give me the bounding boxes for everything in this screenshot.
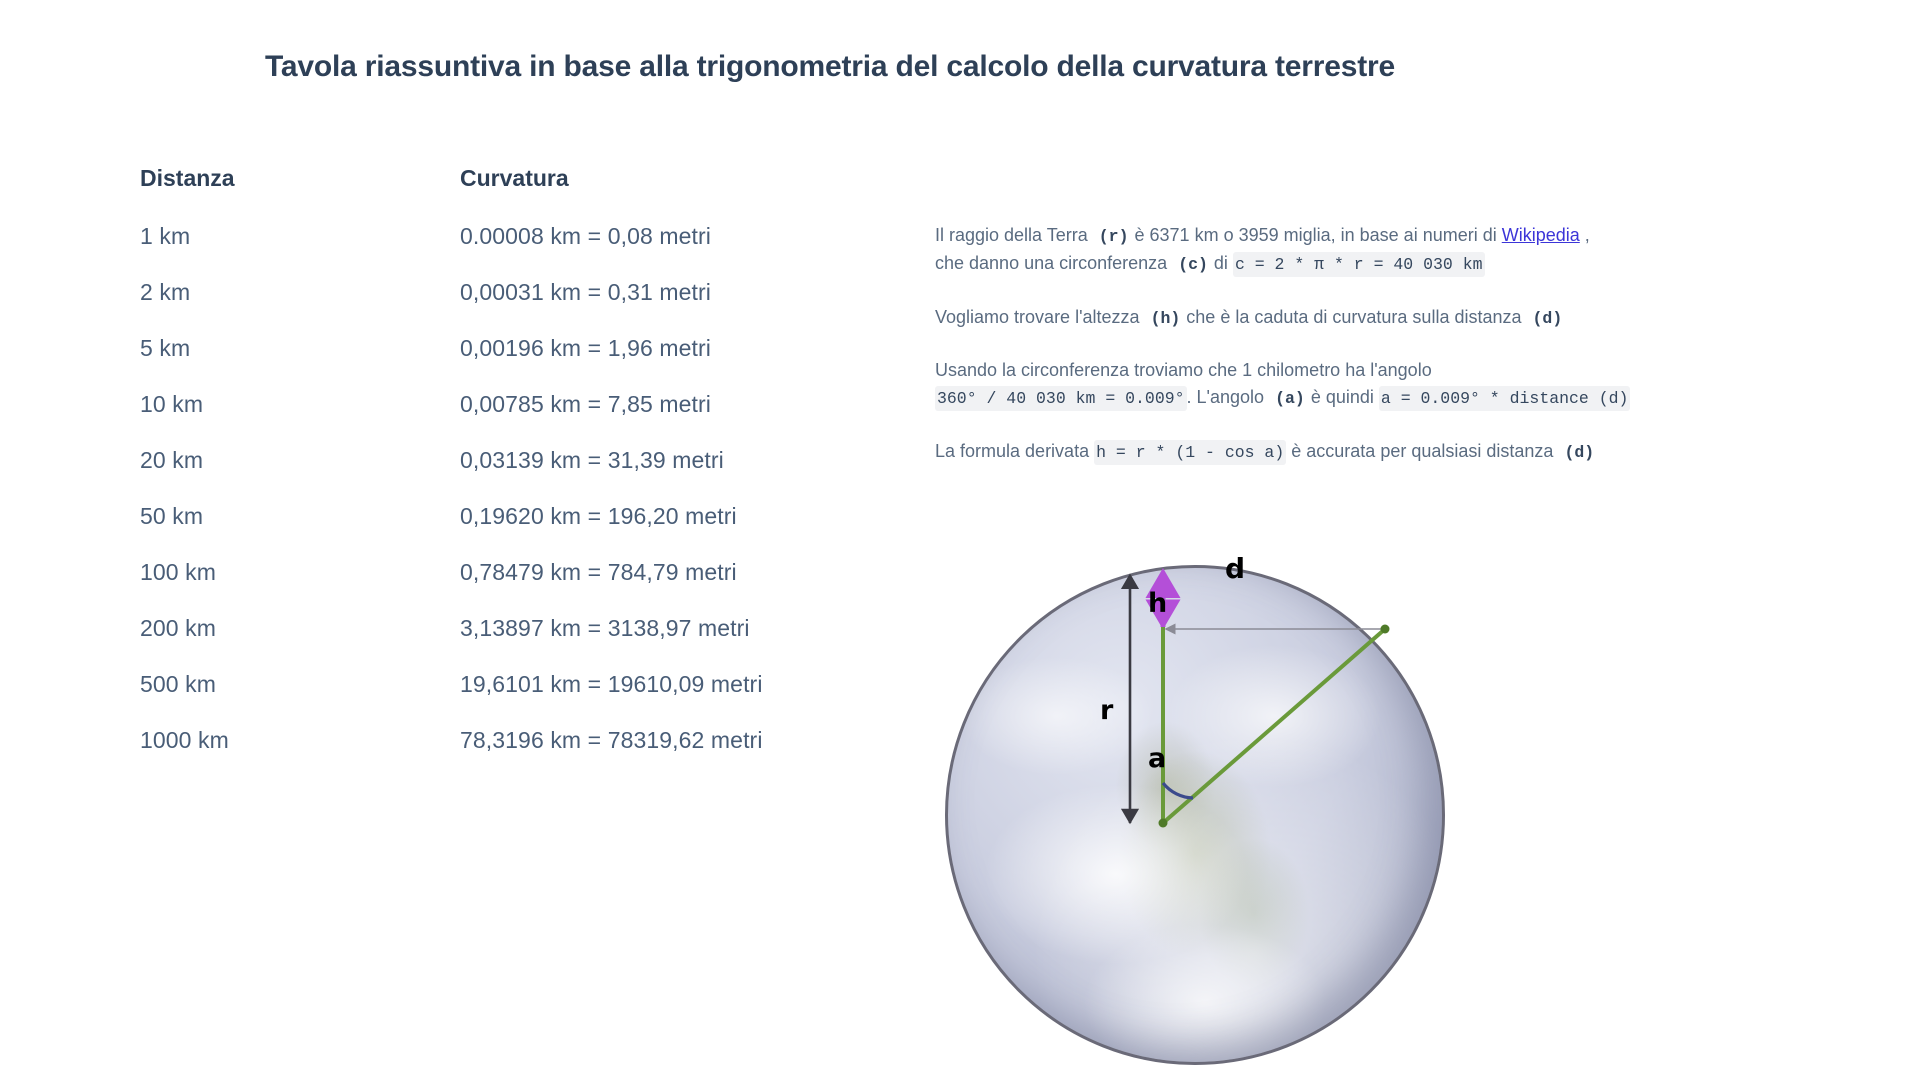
cell-curvature: 0,00196 km = 1,96 metri — [460, 335, 890, 362]
code-angle-per-km: 360° / 40 030 km = 0.009° — [935, 386, 1187, 411]
text-formula-b: è accurata per qualsiasi distanza — [1291, 441, 1553, 461]
code-h: (h) — [1150, 306, 1182, 331]
cell-distance: 10 km — [140, 391, 460, 418]
column-header-distance: Distanza — [140, 165, 460, 192]
cell-distance: 1000 km — [140, 727, 460, 754]
text-radius-a: Il raggio della Terra — [935, 225, 1088, 245]
cell-distance: 1 km — [140, 223, 460, 250]
table-row: 1000 km 78,3196 km = 78319,62 metri — [140, 727, 900, 783]
cell-curvature: 19,6101 km = 19610,09 metri — [460, 671, 890, 698]
code-height-formula: h = r * (1 - cos a) — [1094, 440, 1286, 465]
text-angle-a: Usando la circonferenza troviamo che 1 c… — [935, 360, 1432, 380]
code-circumference-formula: c = 2 * π * r = 40 030 km — [1233, 252, 1485, 277]
table-row: 10 km 0,00785 km = 7,85 metri — [140, 391, 900, 447]
cell-distance: 100 km — [140, 559, 460, 586]
earth-curvature-diagram: d h r a — [930, 555, 1470, 1080]
cell-curvature: 0,00031 km = 0,31 metri — [460, 279, 890, 306]
text-circumference-b: di — [1214, 253, 1228, 273]
cell-curvature: 0,00785 km = 7,85 metri — [460, 391, 890, 418]
cell-distance: 20 km — [140, 447, 460, 474]
label-r: r — [1100, 695, 1113, 726]
code-d: (d) — [1532, 306, 1564, 331]
code-angle-formula: a = 0.009° * distance (d) — [1379, 386, 1631, 411]
text-angle-b: . L'angolo — [1187, 387, 1265, 407]
code-a: (a) — [1274, 386, 1306, 411]
text-circumference-a: che danno una circonferenza — [935, 253, 1167, 273]
cell-curvature: 0,03139 km = 31,39 metri — [460, 447, 890, 474]
cell-distance: 200 km — [140, 615, 460, 642]
table-body: 1 km 0.00008 km = 0,08 metri 2 km 0,0003… — [140, 223, 900, 783]
explanation-block: Il raggio della Terra (r) è 6371 km o 39… — [935, 222, 1905, 466]
center-point — [1159, 819, 1168, 828]
angle-arc — [1163, 783, 1193, 798]
text-height-a: Vogliamo trovare l'altezza — [935, 307, 1140, 327]
cell-curvature: 0,78479 km = 784,79 metri — [460, 559, 890, 586]
diagram-overlay-svg — [930, 555, 1470, 1080]
table-row: 20 km 0,03139 km = 31,39 metri — [140, 447, 900, 503]
curvature-table: Distanza Curvatura 1 km 0.00008 km = 0,0… — [140, 165, 900, 783]
cell-curvature: 78,3196 km = 78319,62 metri — [460, 727, 890, 754]
cell-distance: 500 km — [140, 671, 460, 698]
table-row: 500 km 19,6101 km = 19610,09 metri — [140, 671, 900, 727]
code-d-2: (d) — [1563, 440, 1595, 465]
chord-slant-leg — [1163, 629, 1385, 823]
wikipedia-link[interactable]: Wikipedia — [1502, 225, 1580, 245]
paragraph-height: Vogliamo trovare l'altezza (h) che è la … — [935, 304, 1905, 332]
cell-curvature: 0.00008 km = 0,08 metri — [460, 223, 890, 250]
text-radius-b: è 6371 km o 3959 miglia, in base ai nume… — [1135, 225, 1497, 245]
text-height-b: che è la caduta di curvatura sulla dista… — [1186, 307, 1521, 327]
label-d: d — [1225, 552, 1245, 585]
table-row: 200 km 3,13897 km = 3138,97 metri — [140, 615, 900, 671]
cell-distance: 5 km — [140, 335, 460, 362]
text-angle-c: è quindi — [1311, 387, 1374, 407]
table-row: 5 km 0,00196 km = 1,96 metri — [140, 335, 900, 391]
text-formula-a: La formula derivata — [935, 441, 1089, 461]
page-root: Tavola riassuntiva in base alla trigonom… — [0, 0, 1920, 1080]
cell-curvature: 3,13897 km = 3138,97 metri — [460, 615, 890, 642]
cell-distance: 50 km — [140, 503, 460, 530]
table-header-row: Distanza Curvatura — [140, 165, 900, 223]
text-radius-c: , — [1585, 225, 1590, 245]
horizon-point — [1381, 625, 1390, 634]
paragraph-angle: Usando la circonferenza troviamo che 1 c… — [935, 357, 1905, 412]
table-row: 2 km 0,00031 km = 0,31 metri — [140, 279, 900, 335]
table-row: 100 km 0,78479 km = 784,79 metri — [140, 559, 900, 615]
table-row: 50 km 0,19620 km = 196,20 metri — [140, 503, 900, 559]
code-r: (r) — [1098, 224, 1130, 249]
paragraph-radius: Il raggio della Terra (r) è 6371 km o 39… — [935, 222, 1905, 278]
table-row: 1 km 0.00008 km = 0,08 metri — [140, 223, 900, 279]
page-title: Tavola riassuntiva in base alla trigonom… — [0, 50, 1660, 84]
label-h: h — [1148, 588, 1167, 619]
column-header-curvature: Curvatura — [460, 165, 890, 192]
cell-distance: 2 km — [140, 279, 460, 306]
paragraph-formula: La formula derivata h = r * (1 - cos a) … — [935, 438, 1905, 466]
label-a: a — [1148, 743, 1166, 774]
cell-curvature: 0,19620 km = 196,20 metri — [460, 503, 890, 530]
code-c: (c) — [1177, 252, 1209, 277]
